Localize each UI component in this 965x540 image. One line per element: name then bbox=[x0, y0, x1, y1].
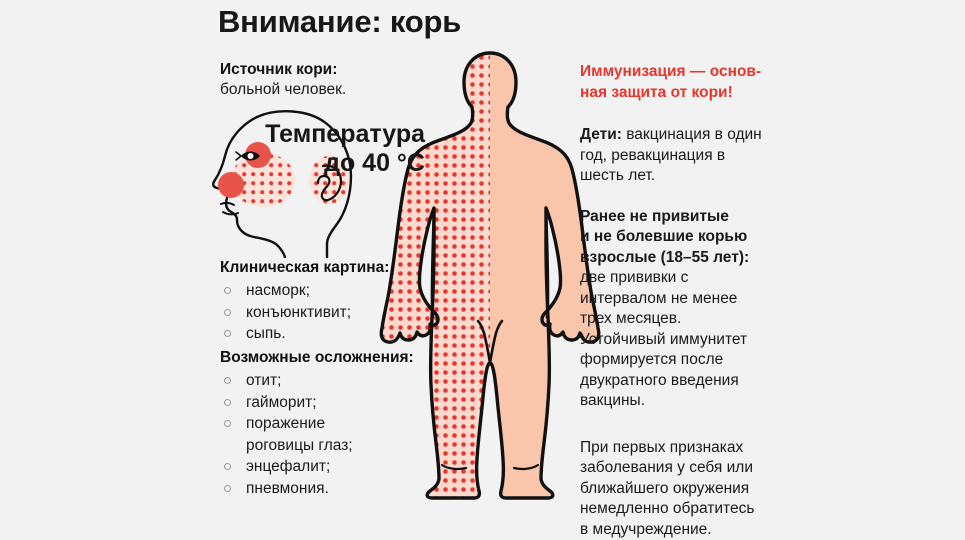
adults-label-line-1: Ранее не привитые bbox=[580, 208, 729, 225]
children-label: Дети: bbox=[580, 126, 622, 143]
clinical-block: Клиническая картина: насморк; конъюнктив… bbox=[220, 258, 455, 345]
list-item-continuation: роговицы глаз; bbox=[220, 435, 455, 457]
list-item-label: энцефалит; bbox=[246, 458, 330, 475]
temperature-line-1: Температура bbox=[253, 120, 425, 149]
adults-paragraph: Ранее не привитыеи не болевшие корьювзро… bbox=[580, 207, 765, 412]
immunization-heading: Иммунизация — основ- ная защита от кори! bbox=[580, 62, 765, 103]
page-title: Внимание: корь bbox=[218, 4, 461, 40]
list-item-label: насморк; bbox=[246, 282, 310, 299]
list-item-label: сыпь. bbox=[246, 325, 286, 342]
list-item: насморк; bbox=[220, 280, 455, 302]
bullet-circle-icon bbox=[224, 287, 231, 294]
bullet-circle-icon bbox=[224, 463, 231, 470]
bullet-circle-icon bbox=[224, 399, 231, 406]
adults-label-line-3: взрослые (18–55 лет): bbox=[580, 249, 749, 266]
immunization-heading-line-1: Иммунизация — основ- bbox=[580, 62, 765, 83]
left-column: Источник кори: больной человек. bbox=[220, 60, 450, 100]
bullet-circle-icon bbox=[224, 377, 231, 384]
bullet-circle-icon bbox=[224, 420, 231, 427]
temperature-line-2: до 40 °C bbox=[253, 149, 425, 178]
list-item: конъюнктивит; bbox=[220, 302, 455, 324]
source-block: Источник кори: больной человек. bbox=[220, 60, 450, 100]
complications-list: отит; гайморит; поражение роговицы глаз;… bbox=[220, 370, 455, 499]
infographic-root: Внимание: корь bbox=[0, 0, 965, 500]
bullet-circle-icon bbox=[224, 485, 231, 492]
list-item: отит; bbox=[220, 370, 455, 392]
list-item-label: конъюнктивит; bbox=[246, 304, 351, 321]
adults-text: две прививки с интервалом не менее трех … bbox=[580, 269, 747, 409]
list-item: сыпь. bbox=[220, 323, 455, 345]
bullet-circle-icon bbox=[224, 330, 231, 337]
list-item: пневмония. bbox=[220, 478, 455, 500]
source-text: больной человек. bbox=[220, 80, 450, 100]
list-item-label: гайморит; bbox=[246, 394, 317, 411]
complications-heading: Возможные осложнения: bbox=[220, 348, 455, 368]
list-item-label: отит; bbox=[246, 372, 281, 389]
bullet-circle-icon bbox=[224, 309, 231, 316]
temperature-caption: Температура до 40 °C bbox=[253, 120, 425, 178]
advice-paragraph: При первых признаках заболевания у себя … bbox=[580, 438, 765, 540]
complications-block: Возможные осложнения: отит; гайморит; по… bbox=[220, 348, 455, 499]
list-item: поражение bbox=[220, 413, 455, 435]
list-item: гайморит; bbox=[220, 392, 455, 414]
list-item: энцефалит; bbox=[220, 456, 455, 478]
adults-label-line-2: и не болевшие корью bbox=[580, 228, 747, 245]
list-item-label: пневмония. bbox=[246, 480, 329, 497]
immunization-heading-line-2: ная защита от кори! bbox=[580, 83, 765, 104]
clinical-heading: Клиническая картина: bbox=[220, 258, 455, 278]
right-column: Иммунизация — основ- ная защита от кори!… bbox=[580, 62, 765, 540]
source-heading: Источник кори: bbox=[220, 60, 450, 80]
runny-nose-red-spot bbox=[218, 172, 244, 198]
list-item-label: поражение bbox=[246, 415, 325, 432]
list-item-label: роговицы глаз; bbox=[246, 437, 353, 454]
children-paragraph: Дети: вакцинация в один год, ревакцинаци… bbox=[580, 125, 765, 187]
clinical-list: насморк; конъюнктивит; сыпь. bbox=[220, 280, 455, 345]
